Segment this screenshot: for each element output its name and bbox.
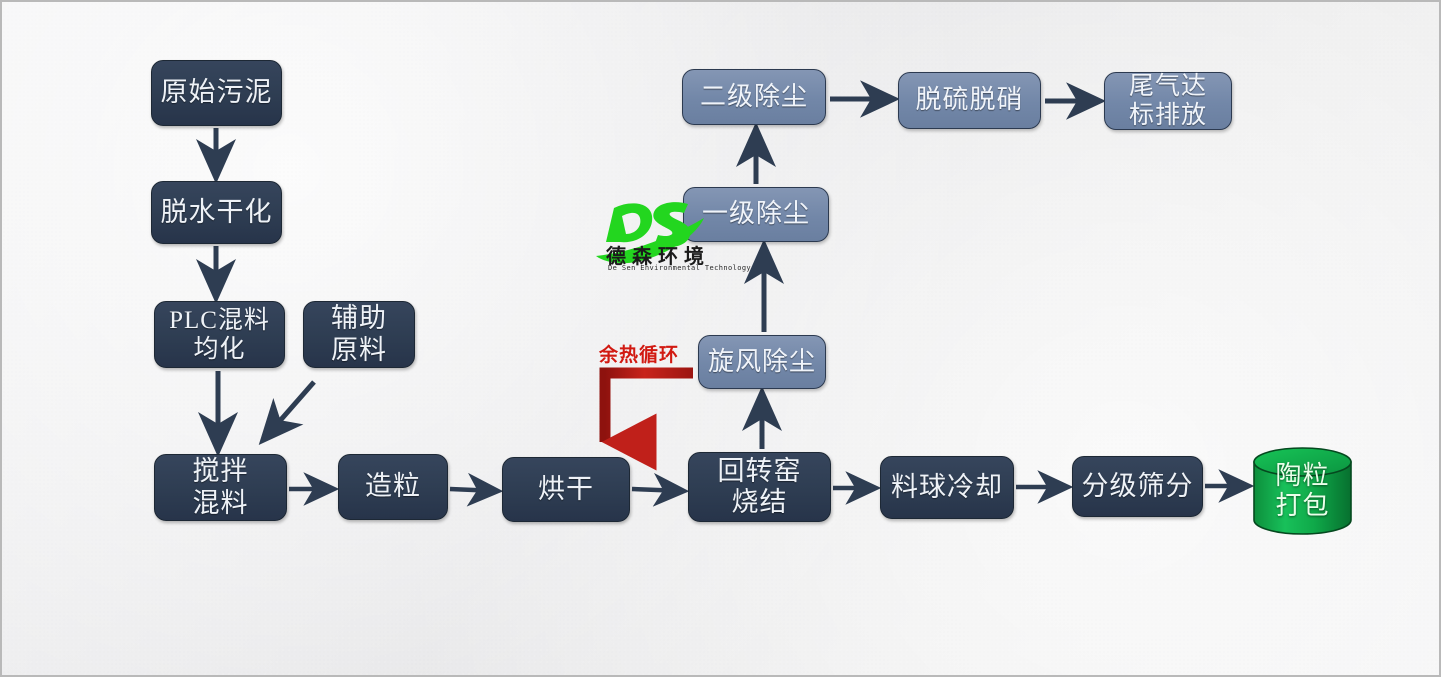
logo-name-en: De Sen Environmental Technology: [608, 264, 751, 272]
company-logo: 德森环境 De Sen Environmental Technology: [592, 190, 772, 276]
edge-waste-heat-recycle: [605, 373, 693, 442]
waste-heat-label: 余热循环: [599, 340, 679, 367]
waste-heat-edge-layer: [2, 2, 1441, 677]
flowchart-canvas: 余热循环 德森环境 De Sen Environmental Technolog…: [0, 0, 1441, 677]
